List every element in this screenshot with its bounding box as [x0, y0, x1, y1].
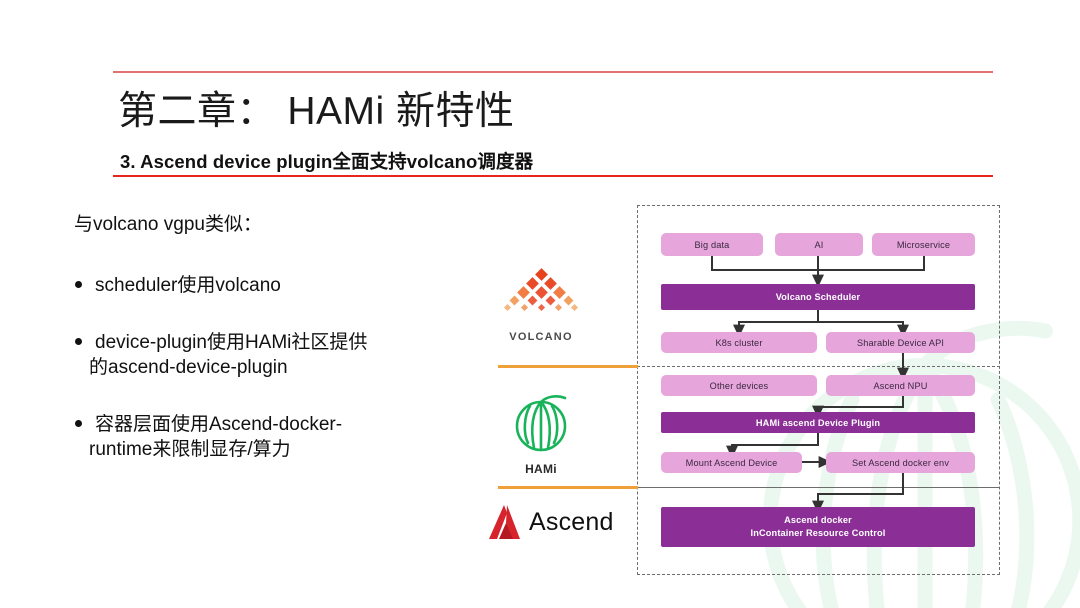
ascend-logo-cell: Ascend	[487, 503, 614, 541]
lane-divider-hami-ascend	[637, 487, 1000, 488]
node-ascend-docker[interactable]: Ascend docker InContainer Resource Contr…	[661, 507, 975, 547]
node-hami-ascend-device-plugin[interactable]: HAMi ascend Device Plugin	[661, 412, 975, 433]
slide-root: 第二章： HAMi 新特性 3. Ascend device plugin全面支…	[0, 0, 1080, 608]
orange-rule-2	[498, 486, 638, 489]
node-ascend-docker-line1: Ascend docker	[784, 514, 852, 527]
hami-logo	[503, 393, 579, 455]
orange-rule-1	[498, 365, 638, 368]
ascend-logo	[487, 503, 523, 541]
node-mount-ascend-device[interactable]: Mount Ascend Device	[661, 452, 802, 473]
architecture-diagram: VOLCANO HAMi Asc	[0, 0, 1080, 608]
node-ai[interactable]: AI	[775, 233, 863, 256]
node-big-data[interactable]: Big data	[661, 233, 763, 256]
hami-logo-caption: HAMi	[503, 462, 579, 476]
volcano-logo-cell: VOLCANO	[498, 268, 584, 343]
node-microservice[interactable]: Microservice	[872, 233, 975, 256]
node-ascend-docker-line2: InContainer Resource Control	[751, 527, 886, 540]
lane-divider-volcano-hami	[637, 366, 1000, 367]
node-sharable-device-api[interactable]: Sharable Device API	[826, 332, 975, 353]
volcano-logo-caption: VOLCANO	[498, 331, 584, 343]
node-ascend-npu[interactable]: Ascend NPU	[826, 375, 975, 396]
node-set-ascend-docker-env[interactable]: Set Ascend docker env	[826, 452, 975, 473]
node-k8s-cluster[interactable]: K8s cluster	[661, 332, 817, 353]
node-other-devices[interactable]: Other devices	[661, 375, 817, 396]
node-volcano-scheduler[interactable]: Volcano Scheduler	[661, 284, 975, 310]
volcano-logo	[498, 268, 584, 324]
ascend-logo-caption: Ascend	[529, 508, 614, 537]
hami-logo-cell: HAMi	[503, 393, 579, 476]
